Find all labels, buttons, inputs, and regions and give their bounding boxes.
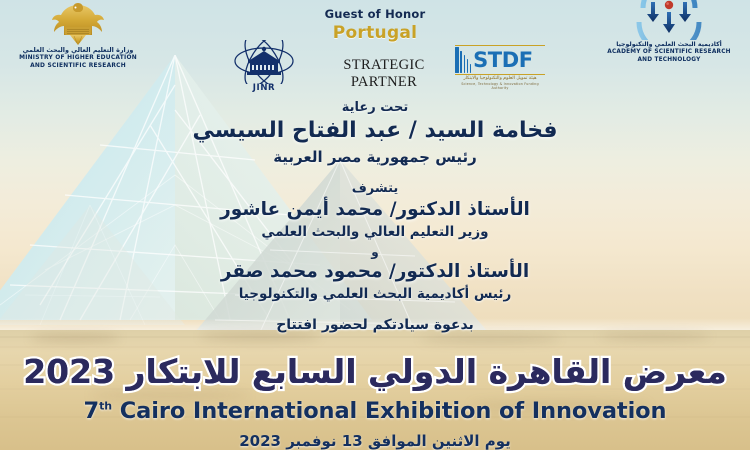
guest-of-honor-block: Guest of Honor Portugal (0, 7, 750, 43)
jinr-logo-block: JINR (225, 40, 303, 93)
stdf-english-name: Science, Technology & Innovation Funding… (455, 82, 545, 90)
strategic-partner-label: STRATEGIC PARTNER (309, 57, 459, 91)
guest-of-honor-label: Guest of Honor (0, 7, 750, 21)
invitation-line: بدعوة سيادتكم لحضور افتتاح (175, 317, 575, 333)
asrt-president-name: الأستاذ الدكتور/ محمود محمد صقر (175, 260, 575, 284)
third-pyramid-graphic (0, 205, 200, 335)
academy-english-line1: ACADEMY OF SCIENTIFIC RESEARCH (594, 49, 744, 57)
academy-english-line2: AND TECHNOLOGY (594, 57, 744, 65)
event-title-english: 7th Cairo International Exhibition of In… (0, 398, 750, 424)
ministry-english-line2: AND SCIENTIFIC RESEARCH (8, 63, 148, 70)
conjunction-and: و (175, 245, 575, 259)
event-title-arabic: معرض القاهرة الدولي السابع للابتكار 2023 (0, 352, 750, 391)
stdf-wordmark: STDF (455, 47, 545, 73)
minister-name: الأستاذ الدكتور/ محمد أيمن عاشور (175, 198, 575, 222)
event-date-line: يوم الاثنين الموافق 13 نوفمبر 2023 (0, 432, 750, 450)
event-title-ordinal: 7 (84, 398, 100, 424)
poster-center-content: تحت رعاية فخامة السيد / عبد الفتاح السيس… (175, 100, 575, 333)
stdf-bars-logo-icon (455, 47, 471, 73)
event-title-english-rest: Cairo International Exhibition of Innova… (120, 398, 667, 424)
minister-title: وزير التعليم العالي والبحث العلمي (175, 223, 575, 241)
ministry-arabic-name: وزارة التعليم العالي والبحث العلمي (8, 47, 148, 54)
honored-by-label: يتشرف (175, 181, 575, 197)
stdf-logo-block: STDF هيئة تمويل العلوم والتكنولوجيا والا… (455, 44, 545, 90)
president-name: فخامة السيد / عبد الفتاح السيسي (175, 117, 575, 146)
ministry-english-line1: MINISTRY OF HIGHER EDUCATION (8, 55, 148, 62)
asrt-president-title: رئيس أكاديمية البحث العلمي والتكنولوجيا (175, 285, 575, 303)
stdf-text: STDF (473, 48, 533, 72)
president-title: رئيس جمهورية مصر العربية (175, 147, 575, 167)
jinr-label: JINR (225, 83, 303, 93)
jinr-atom-logo-icon (233, 40, 295, 84)
under-patronage-label: تحت رعاية (175, 100, 575, 116)
event-poster: وزارة التعليم العالي والبحث العلمي MINIS… (0, 0, 750, 450)
event-title-ordinal-suffix: th (99, 400, 112, 413)
stdf-arabic-name: هيئة تمويل العلوم والتكنولوجيا والابتكار (455, 76, 545, 82)
partners-row: JINR STRATEGIC PARTNER STDF هيئة تمويل ا… (225, 40, 545, 98)
